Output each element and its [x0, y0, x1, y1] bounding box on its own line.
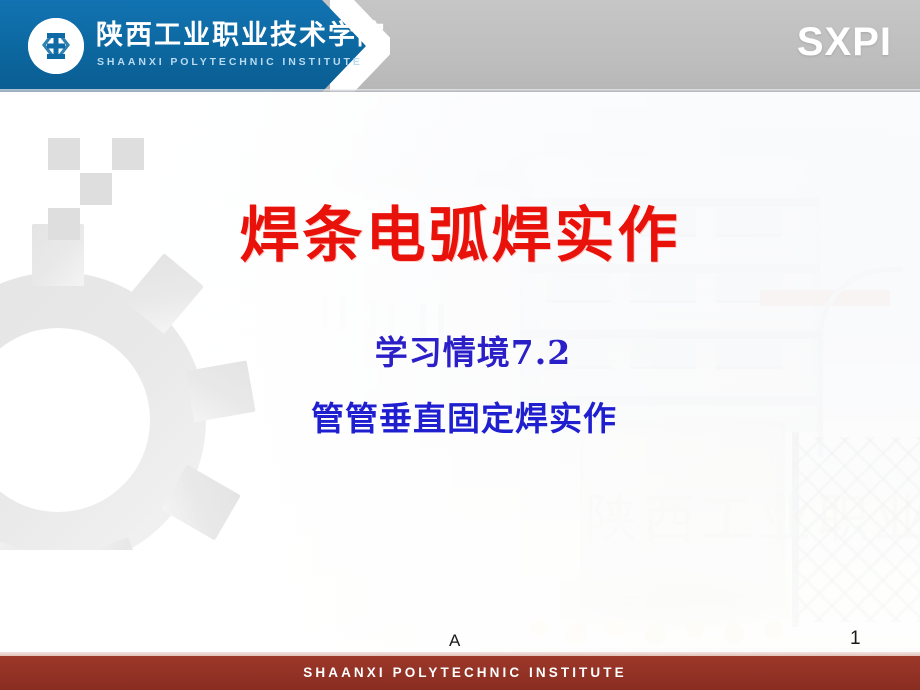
- header-divider: [0, 89, 920, 92]
- institute-name-cn: 陕西工业职业技术学院: [96, 22, 386, 49]
- brand-abbr: SXPI: [797, 22, 892, 62]
- slide-footer: SHAANXI POLYTECHNIC INSTITUTE: [0, 656, 920, 690]
- institute-name-en: SHAANXI POLYTECHNIC INSTITUTE: [97, 56, 363, 68]
- footer-label: SHAANXI POLYTECHNIC INSTITUTE: [0, 656, 920, 690]
- slide-header: 陕西工业职业技术学院 SHAANXI POLYTECHNIC INSTITUTE…: [0, 0, 920, 92]
- revision-mark: A: [449, 631, 460, 651]
- sxpi-emblem-icon: [28, 18, 84, 74]
- page-number: 1: [850, 628, 861, 650]
- slide-root: 陕西工业职业技术学院: [0, 0, 920, 690]
- slide-title: 焊条电弧焊实作: [0, 206, 920, 266]
- slide-subtitle-line1: 学习情境7.2: [0, 336, 920, 369]
- slide-subtitle-line2: 管管垂直固定焊实作: [0, 402, 920, 435]
- photo-white-veil: [0, 92, 920, 652]
- slide-background: 陕西工业职业技术学院: [0, 92, 920, 652]
